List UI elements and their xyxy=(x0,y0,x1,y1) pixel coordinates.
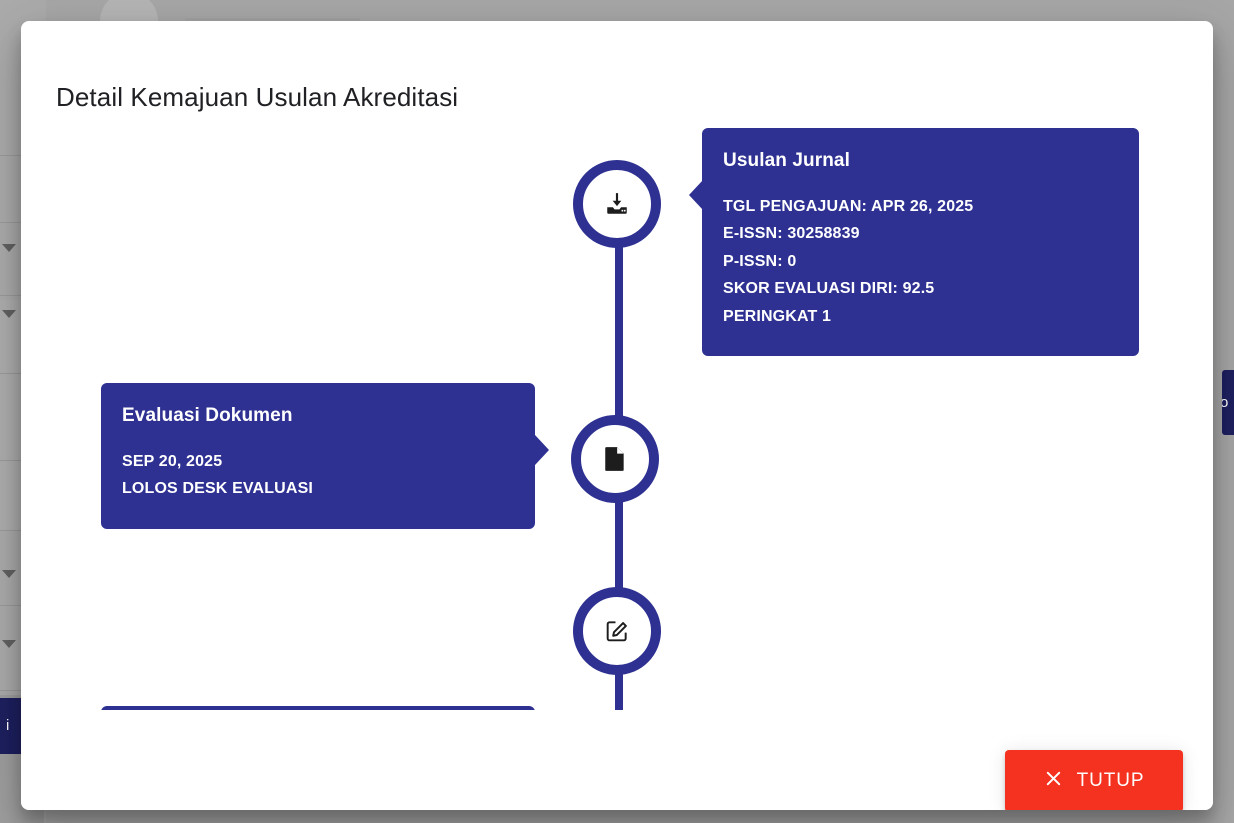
timeline-card-title: Evaluasi Dokumen xyxy=(122,405,511,428)
timeline-connector-line xyxy=(615,674,623,710)
close-button[interactable]: TUTUP xyxy=(1005,750,1183,810)
download-inbox-icon xyxy=(604,191,630,217)
timeline-scroll-container[interactable]: Usulan Jurnal TGL PENGAJUAN: APR 26, 202… xyxy=(21,118,1213,710)
accreditation-progress-timeline: Usulan Jurnal TGL PENGAJUAN: APR 26, 202… xyxy=(21,118,1213,710)
timeline-card-detail-line: SEP 20, 2025 xyxy=(122,448,511,476)
background-caret-icon xyxy=(2,640,16,648)
timeline-card-title: Usulan Jurnal xyxy=(723,150,1115,173)
page-title: Detail Kemajuan Usulan Akreditasi xyxy=(56,82,458,113)
timeline-node-usulan-jurnal[interactable] xyxy=(573,160,661,248)
timeline-node-third-event[interactable] xyxy=(573,587,661,675)
document-file-icon xyxy=(603,446,627,472)
background-caret-icon xyxy=(2,310,16,318)
timeline-card-detail-line: TGL PENGAJUAN: APR 26, 2025 xyxy=(723,193,1115,221)
timeline-node-evaluasi-dokumen[interactable] xyxy=(571,415,659,503)
timeline-card-detail-line: P-ISSN: 0 xyxy=(723,248,1115,276)
timeline-card-notch xyxy=(535,435,549,465)
timeline-connector-line xyxy=(615,246,623,416)
close-button-label: TUTUP xyxy=(1077,770,1145,792)
timeline-card-detail-line: SKOR EVALUASI DIRI: 92.5 xyxy=(723,275,1115,303)
close-x-icon xyxy=(1044,769,1063,794)
timeline-card-evaluasi-dokumen: Evaluasi Dokumen SEP 20, 2025 LOLOS DESK… xyxy=(101,383,535,529)
timeline-card-detail-line: E-ISSN: 30258839 xyxy=(723,220,1115,248)
timeline-card-usulan-jurnal: Usulan Jurnal TGL PENGAJUAN: APR 26, 202… xyxy=(702,128,1139,356)
side-tab-left-label: i xyxy=(6,717,9,734)
side-tab-right-label: o xyxy=(1222,394,1228,411)
timeline-card-notch xyxy=(689,180,703,210)
background-side-tab-right[interactable]: o xyxy=(1222,370,1234,435)
detail-progress-modal: Detail Kemajuan Usulan Akreditasi xyxy=(21,21,1213,810)
background-caret-icon xyxy=(2,570,16,578)
timeline-card-detail-line: LOLOS DESK EVALUASI xyxy=(122,475,511,503)
edit-pencil-square-icon xyxy=(604,618,630,644)
modal-footer: TUTUP xyxy=(21,710,1213,810)
background-caret-icon xyxy=(2,244,16,252)
timeline-card-third-event xyxy=(101,706,535,710)
timeline-card-detail-line: PERINGKAT 1 xyxy=(723,303,1115,331)
